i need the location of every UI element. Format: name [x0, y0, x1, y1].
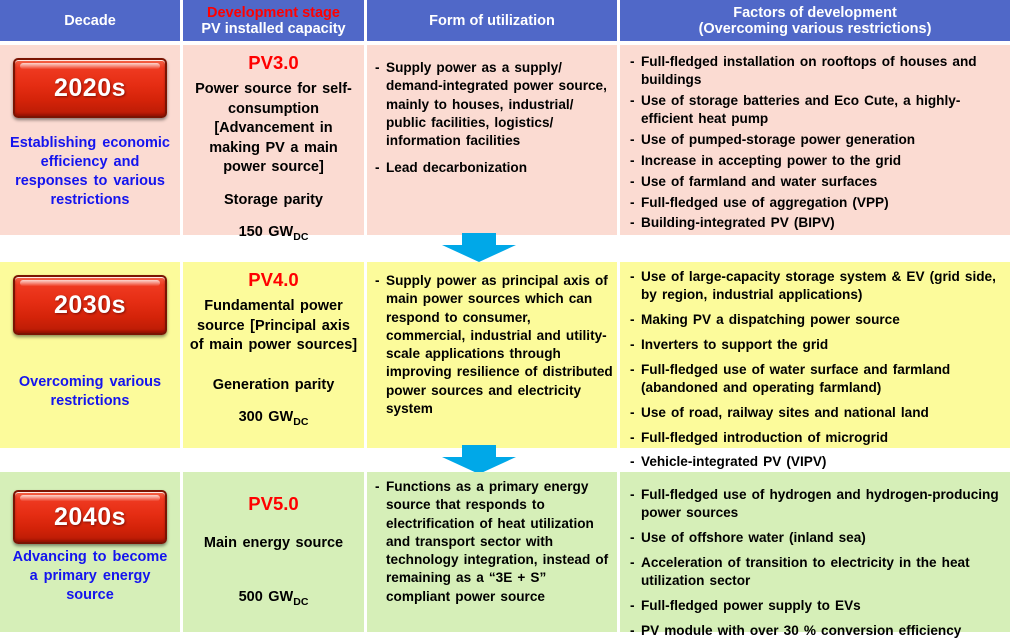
header-cell-decade: Decade	[0, 0, 183, 41]
decade-goal-text: Advancing to become a primary energy sou…	[6, 548, 174, 605]
stage-capacity: 150 GWDC	[189, 223, 358, 247]
stage-title: PV3.0	[189, 51, 358, 75]
stage-cell-2020s: PV3.0 Power source for self-consumption …	[183, 45, 367, 235]
factors-cell-2020s: Full-fledged installation on rooftops of…	[620, 45, 1010, 235]
stage-description: Power source for self-consumption [Advan…	[189, 80, 358, 178]
list-item: PV module with over 30 % conversion effi…	[630, 622, 1004, 640]
decade-badge-2020s[interactable]: 2020s	[13, 58, 167, 118]
decade-badge-2040s[interactable]: 2040s	[13, 490, 167, 544]
decade-goal-text: Establishing economic efficiency and res…	[6, 134, 174, 210]
factors-list: Use of large-capacity storage system & E…	[630, 268, 1004, 472]
stage-capacity-subscript: DC	[293, 231, 308, 243]
stage-cell-2030s: PV4.0 Fundamental power source [Principa…	[183, 262, 367, 448]
header-factors-line1: Factors of development	[733, 5, 897, 21]
list-item: Inverters to support the grid	[630, 336, 1004, 354]
factors-cell-2040s: Full-fledged use of hydrogen and hydroge…	[620, 472, 1010, 632]
utilization-list: Supply power as principal axis of main p…	[375, 272, 613, 418]
list-item: Use of road, railway sites and national …	[630, 404, 1004, 422]
utilization-cell-2030s: Supply power as principal axis of main p…	[367, 262, 620, 448]
factors-cell-2030s: Use of large-capacity storage system & E…	[620, 262, 1010, 448]
stage-description: Fundamental power source [Principal axis…	[189, 297, 358, 356]
list-item: Use of pumped-storage power generation	[630, 131, 1004, 149]
utilization-list: Supply power as a supply/ demand-integra…	[375, 59, 613, 178]
stage-capacity: 300 GWDC	[189, 408, 358, 432]
table-row-2030s: 2030s Overcoming various restrictions PV…	[0, 262, 1010, 448]
list-item: Use of large-capacity storage system & E…	[630, 268, 1004, 305]
decade-cell-2020s: 2020s Establishing economic efficiency a…	[0, 45, 183, 235]
utilization-cell-2020s: Supply power as a supply/ demand-integra…	[367, 45, 620, 235]
stage-capacity-value: 300 GW	[239, 409, 294, 425]
decade-label: 2030s	[54, 291, 126, 320]
down-arrow-icon-2030s-to-2040s	[440, 445, 518, 475]
list-item: Full-fledged power supply to EVs	[630, 597, 1004, 615]
list-item: Lead decarbonization	[375, 159, 613, 177]
factors-list: Full-fledged use of hydrogen and hydroge…	[630, 486, 1004, 640]
decade-badge-2030s[interactable]: 2030s	[13, 275, 167, 335]
header-form-of-utilization-line1: Form of utilization	[429, 13, 555, 29]
header-development-stage-line1: Development stage	[207, 5, 340, 21]
stage-cell-2040s: PV5.0 Main energy source 500 GWDC	[183, 472, 367, 632]
utilization-cell-2040s: Functions as a primary energy source tha…	[367, 472, 620, 632]
stage-parity: Storage parity	[189, 191, 358, 211]
list-item: Vehicle-integrated PV (VIPV)	[630, 453, 1004, 471]
list-item: Acceleration of transition to electricit…	[630, 554, 1004, 591]
utilization-list: Functions as a primary energy source tha…	[375, 478, 613, 606]
decade-cell-2040s: 2040s Advancing to become a primary ener…	[0, 472, 183, 632]
list-item: Use of offshore water (inland sea)	[630, 529, 1004, 547]
table-header-row: Decade Development stage PV installed ca…	[0, 0, 1010, 41]
stage-capacity-subscript: DC	[293, 595, 308, 607]
stage-capacity-value: 500 GW	[239, 589, 294, 605]
list-item: Use of farmland and water surfaces	[630, 173, 1004, 191]
decade-cell-2030s: 2030s Overcoming various restrictions	[0, 262, 183, 448]
decade-label: 2040s	[54, 503, 126, 532]
header-development-stage-line2: PV installed capacity	[201, 21, 345, 37]
stage-title: PV5.0	[189, 492, 358, 516]
list-item: Building-integrated PV (BIPV)	[630, 214, 1004, 232]
stage-capacity: 500 GWDC	[189, 588, 358, 612]
header-cell-form-of-utilization: Form of utilization	[367, 0, 620, 41]
list-item: Full-fledged use of aggregation (VPP)	[630, 194, 1004, 212]
header-factors-line2: (Overcoming various restrictions)	[699, 21, 932, 37]
stage-description: Main energy source	[189, 534, 358, 554]
decade-label: 2020s	[54, 74, 126, 103]
table-row-2040s: 2040s Advancing to become a primary ener…	[0, 472, 1010, 632]
list-item: Functions as a primary energy source tha…	[375, 478, 613, 606]
header-cell-factors-of-development: Factors of development (Overcoming vario…	[620, 0, 1010, 41]
header-cell-development-stage: Development stage PV installed capacity	[183, 0, 367, 41]
factors-list: Full-fledged installation on rooftops of…	[630, 53, 1004, 233]
decade-goal-text: Overcoming various restrictions	[6, 373, 174, 411]
list-item: Increase in accepting power to the grid	[630, 152, 1004, 170]
pv-roadmap-table: Decade Development stage PV installed ca…	[0, 0, 1010, 634]
stage-capacity-subscript: DC	[293, 416, 308, 428]
list-item: Full-fledged use of hydrogen and hydroge…	[630, 486, 1004, 523]
down-arrow-icon-2020s-to-2030s	[440, 233, 518, 263]
list-item: Full-fledged installation on rooftops of…	[630, 53, 1004, 90]
list-item: Supply power as a supply/ demand-integra…	[375, 59, 613, 150]
table-row-2020s: 2020s Establishing economic efficiency a…	[0, 45, 1010, 235]
stage-title: PV4.0	[189, 268, 358, 292]
list-item: Full-fledged use of water surface and fa…	[630, 361, 1004, 398]
list-item: Supply power as principal axis of main p…	[375, 272, 613, 418]
list-item: Making PV a dispatching power source	[630, 311, 1004, 329]
stage-capacity-value: 150 GW	[239, 224, 294, 240]
list-item: Use of storage batteries and Eco Cute, a…	[630, 92, 1004, 129]
header-decade-line1: Decade	[64, 13, 116, 29]
list-item: Full-fledged introduction of microgrid	[630, 429, 1004, 447]
stage-parity: Generation parity	[189, 376, 358, 396]
